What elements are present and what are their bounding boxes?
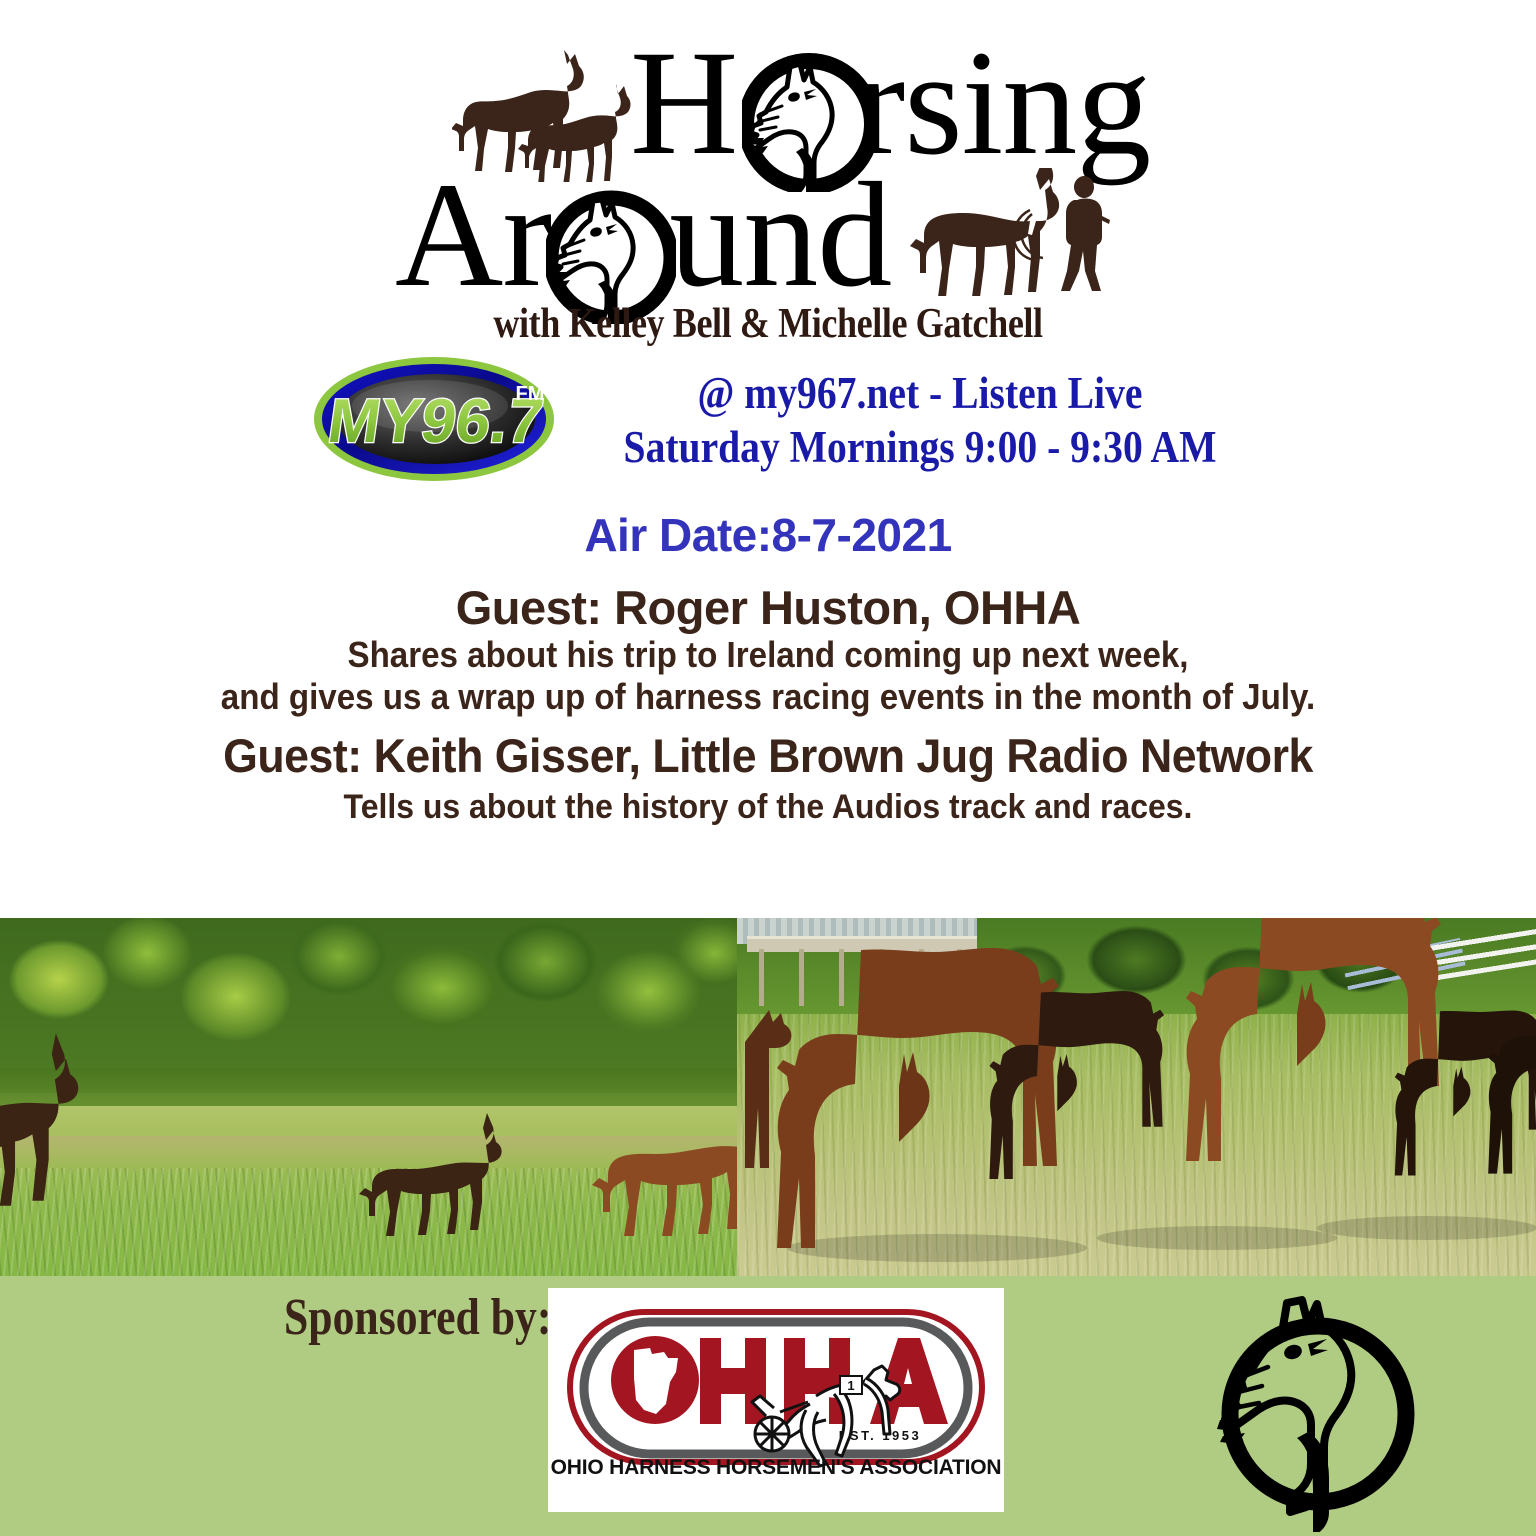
my967-fm-station-logo[interactable]: MY96.7 FM [312,354,557,484]
running-horses-group [0,918,737,1276]
guest-1-name: Guest: Roger Huston, OHHA [0,580,1536,635]
hosts-line: with Kelley Bell & Michelle Gatchell [108,300,1429,348]
ohha-logo-graphic: EST. 1953 1 OHIO HARNESS HORSEMEN'S ASSO… [548,1288,1004,1512]
ohha-logo[interactable]: EST. 1953 1 OHIO HARNESS HORSEMEN'S ASSO… [548,1288,1004,1512]
guest-1-description: Shares about his trip to Ireland coming … [61,634,1474,718]
show-promo-poster: Hrsing Arund [0,0,1536,1536]
sponsored-by-label: Sponsored by: [284,1288,551,1347]
station-row: MY96.7 FM @ my967.net - Listen Live Satu… [0,352,1536,487]
horse-head-circle-badge-icon [1198,1282,1438,1532]
guest-1-description-line2: and gives us a wrap up of harness racing… [61,676,1474,718]
horse-and-handler-silhouette-icon [908,168,1123,296]
airtime-line: Saturday Mornings 9:00 - 9:30 AM [612,422,1228,472]
air-date: Air Date:8-7-2021 [0,508,1536,562]
show-logo: Hrsing Arund [0,0,1536,300]
listen-live-line[interactable]: @ my967.net - Listen Live [612,368,1228,418]
photo-horse-herd [737,918,1536,1276]
ohha-fullname-text: OHIO HARNESS HORSEMEN'S ASSOCIATION [551,1456,1002,1479]
guest-2-description: Tells us about the history of the Audios… [46,788,1490,827]
standing-horses-group [737,918,1536,1276]
my967-logo-fm-text: FM [516,383,545,405]
photo-band [0,918,1536,1276]
my967-logo-text: MY96.7 [324,387,547,456]
guest-2-name: Guest: Keith Gisser, Little Brown Jug Ra… [38,728,1497,783]
photo-horses-running [0,918,737,1276]
sulky-bib-number: 1 [847,1378,854,1393]
ohha-letters [700,1338,948,1424]
guest-1-description-line1: Shares about his trip to Ireland coming … [61,634,1474,676]
